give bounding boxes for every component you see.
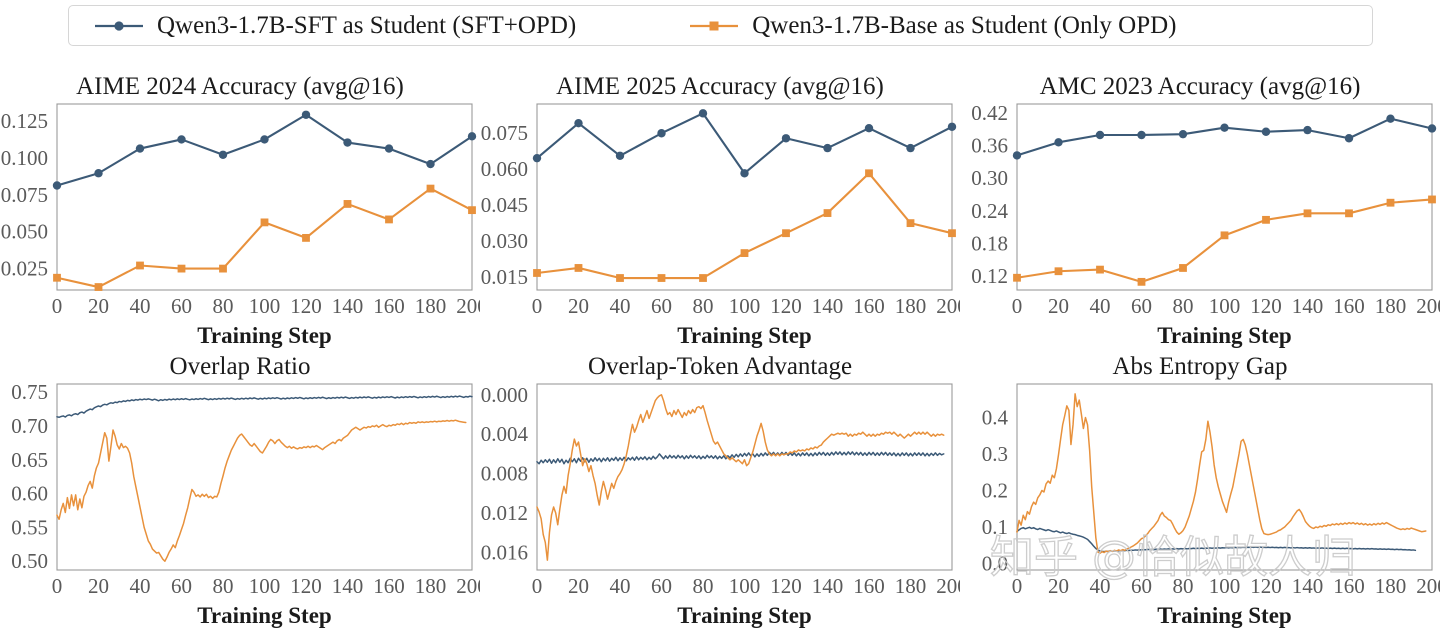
y-axis-tick-label: 0.000 (481, 383, 528, 407)
x-axis-tick-label: 180 (415, 294, 447, 318)
y-axis-tick-label: 0.015 (481, 265, 528, 289)
plot-frame (57, 104, 472, 290)
x-axis-tick-label: 40 (130, 574, 151, 598)
x-axis-tick-label: 100 (249, 574, 281, 598)
data-point-marker (1303, 126, 1311, 134)
data-point-marker (344, 200, 352, 208)
x-axis-tick-label: 180 (895, 294, 927, 318)
data-point-marker (385, 216, 393, 224)
x-axis-tick-label: 0 (52, 574, 63, 598)
data-point-marker (1013, 274, 1021, 282)
line-circle-marker-icon (93, 16, 145, 36)
data-point-marker (699, 109, 707, 117)
x-axis-tick-label: 160 (1333, 574, 1365, 598)
y-axis-tick-label: 0.060 (481, 157, 528, 181)
y-axis-tick-label: 0.3 (982, 442, 1008, 466)
x-axis-tick-label: 120 (290, 294, 322, 318)
y-axis-tick-label: 0.100 (1, 146, 48, 170)
y-axis-tick-label: 0.55 (11, 515, 48, 539)
data-point-marker (177, 135, 185, 143)
plot-frame (57, 384, 472, 570)
data-point-marker (1386, 114, 1394, 122)
data-point-marker (533, 269, 541, 277)
x-axis-tick-label: 60 (1131, 574, 1152, 598)
x-axis-tick-label: 200 (936, 574, 960, 598)
data-point-marker (95, 283, 103, 291)
x-axis-tick-label: 100 (729, 574, 761, 598)
x-axis-tick-label: 140 (332, 294, 364, 318)
data-point-marker (53, 274, 61, 282)
plot-frame (1017, 384, 1432, 570)
x-axis-tick-label: 140 (812, 574, 844, 598)
y-axis-tick-label: 0.75 (11, 380, 48, 404)
x-axis-tick-label: 80 (213, 294, 234, 318)
x-axis-tick-label: 60 (1131, 294, 1152, 318)
y-axis-tick-label: 0.36 (971, 134, 1008, 158)
x-axis-tick-label: 160 (373, 294, 405, 318)
x-axis-tick-label: 60 (171, 294, 192, 318)
plot-frame (1017, 104, 1432, 290)
y-axis-tick-label: 0.075 (481, 121, 528, 145)
data-point-marker (302, 111, 310, 119)
data-point-marker (824, 209, 832, 217)
figure-legend: Qwen3-1.7B-SFT as Student (SFT+OPD) Qwen… (68, 5, 1373, 46)
data-point-marker (1179, 264, 1187, 272)
y-axis-tick-label: 0.50 (11, 549, 48, 573)
y-axis-tick-label: 0.125 (1, 109, 48, 133)
data-point-marker (1138, 278, 1146, 286)
data-point-marker (1428, 196, 1436, 204)
x-axis-tick-label: 200 (456, 574, 480, 598)
y-axis-tick-label: −0.016 (480, 540, 528, 564)
data-point-marker (427, 185, 435, 193)
y-axis-tick-label: −0.012 (480, 501, 528, 525)
subplot-canvas: 0.120.180.240.300.360.420204060801001201… (960, 72, 1440, 359)
x-axis-tick-label: 80 (693, 574, 714, 598)
x-axis-tick-label: 20 (88, 294, 109, 318)
x-axis-tick-label: 140 (332, 574, 364, 598)
data-point-marker (823, 144, 831, 152)
subplot-overlap-ratio: Overlap Ratio 0.500.550.600.650.700.7502… (0, 352, 480, 639)
data-point-marker (302, 234, 310, 242)
x-axis-tick-label: 200 (1416, 294, 1440, 318)
data-point-marker (658, 274, 666, 282)
data-point-marker (1345, 134, 1353, 142)
figure-root: Qwen3-1.7B-SFT as Student (SFT+OPD) Qwen… (0, 0, 1440, 620)
x-axis-tick-label: 200 (936, 294, 960, 318)
subplot-canvas: 0.0250.0500.0750.1000.125020406080100120… (0, 72, 480, 359)
data-point-marker (1221, 231, 1229, 239)
y-axis-tick-label: 0.0 (982, 551, 1008, 575)
data-point-marker (94, 169, 102, 177)
data-point-marker (1304, 209, 1312, 217)
data-point-marker (1220, 123, 1228, 131)
y-axis-tick-label: 0.1 (982, 515, 1008, 539)
data-point-marker (1428, 124, 1436, 132)
y-axis-tick-label: 0.60 (11, 482, 48, 506)
x-axis-tick-label: 140 (1292, 294, 1324, 318)
x-axis-tick-label: 140 (812, 294, 844, 318)
y-axis-tick-label: 0.075 (1, 183, 48, 207)
subplot-aime-2025: AIME 2025 Accuracy (avg@16) 0.0150.0300.… (480, 72, 960, 359)
data-point-marker (53, 181, 61, 189)
x-axis-tick-label: 40 (130, 294, 151, 318)
x-axis-tick-label: 180 (415, 574, 447, 598)
x-axis-tick-label: 120 (1250, 294, 1282, 318)
data-point-marker (219, 151, 227, 159)
x-axis-label: Training Step (1157, 603, 1291, 628)
subplot-abs-entropy-gap: Abs Entropy Gap 0.00.10.20.30.4020406080… (960, 352, 1440, 639)
x-axis-tick-label: 120 (290, 574, 322, 598)
x-axis-tick-label: 0 (1012, 574, 1023, 598)
y-axis-tick-label: 0.050 (1, 220, 48, 244)
data-point-marker (1096, 131, 1104, 139)
data-point-marker (219, 265, 227, 273)
x-axis-tick-label: 0 (532, 294, 543, 318)
x-axis-tick-label: 100 (249, 294, 281, 318)
x-axis-tick-label: 180 (1375, 294, 1407, 318)
x-axis-tick-label: 180 (1375, 574, 1407, 598)
x-axis-tick-label: 160 (1333, 294, 1365, 318)
data-point-marker (533, 154, 541, 162)
x-axis-tick-label: 160 (853, 574, 885, 598)
y-axis-tick-label: 0.70 (11, 414, 48, 438)
y-axis-tick-label: −0.004 (480, 422, 528, 446)
data-point-marker (1262, 128, 1270, 136)
x-axis-tick-label: 20 (88, 574, 109, 598)
x-axis-label: Training Step (197, 603, 331, 628)
data-point-marker (385, 144, 393, 152)
y-axis-tick-label: 0.65 (11, 448, 48, 472)
legend-label-base: Qwen3-1.7B-Base as Student (Only OPD) (752, 12, 1176, 40)
x-axis-label: Training Step (677, 323, 811, 348)
subplot-canvas: 0.00.10.20.30.40204060801001201401601802… (960, 352, 1440, 639)
x-axis-tick-label: 0 (1012, 294, 1023, 318)
legend-entry-sft: Qwen3-1.7B-SFT as Student (SFT+OPD) (93, 12, 576, 40)
y-axis-tick-label: 0.12 (971, 264, 1008, 288)
data-point-marker (574, 119, 582, 127)
subplot-canvas: 0.500.550.600.650.700.750204060801001201… (0, 352, 480, 639)
y-axis-tick-label: 0.18 (971, 232, 1008, 256)
y-axis-tick-label: 0.30 (971, 166, 1008, 190)
x-axis-tick-label: 60 (171, 574, 192, 598)
x-axis-tick-label: 180 (895, 574, 927, 598)
x-axis-tick-label: 200 (456, 294, 480, 318)
y-axis-tick-label: −0.008 (480, 462, 528, 486)
x-axis-tick-label: 0 (52, 294, 63, 318)
x-axis-tick-label: 40 (1090, 574, 1111, 598)
subplot-aime-2024: AIME 2024 Accuracy (avg@16) 0.0250.0500.… (0, 72, 480, 359)
subplot-canvas: −0.016−0.012−0.008−0.0040.00002040608010… (480, 352, 960, 639)
x-axis-tick-label: 20 (568, 574, 589, 598)
x-axis-tick-label: 20 (1048, 294, 1069, 318)
x-axis-tick-label: 140 (1292, 574, 1324, 598)
data-point-marker (136, 262, 144, 270)
y-axis-tick-label: 0.24 (971, 199, 1008, 223)
x-axis-tick-label: 200 (1416, 574, 1440, 598)
data-point-marker (178, 265, 186, 273)
data-point-marker (575, 264, 583, 272)
x-axis-label: Training Step (677, 603, 811, 628)
x-axis-tick-label: 20 (568, 294, 589, 318)
x-axis-tick-label: 100 (729, 294, 761, 318)
plot-frame (537, 384, 952, 570)
data-point-marker (948, 229, 956, 237)
x-axis-tick-label: 80 (693, 294, 714, 318)
data-point-marker (1055, 267, 1063, 275)
subplot-amc-2023: AMC 2023 Accuracy (avg@16) 0.120.180.240… (960, 72, 1440, 359)
data-point-marker (1137, 131, 1145, 139)
x-axis-tick-label: 120 (770, 574, 802, 598)
subplot-overlap-token-advantage: Overlap-Token Advantage −0.016−0.012−0.0… (480, 352, 960, 639)
data-point-marker (741, 249, 749, 257)
data-point-marker (260, 135, 268, 143)
data-point-marker (907, 219, 915, 227)
data-point-marker (1054, 138, 1062, 146)
data-point-marker (616, 274, 624, 282)
x-axis-tick-label: 100 (1209, 574, 1241, 598)
data-point-marker (468, 132, 476, 140)
data-point-marker (865, 124, 873, 132)
subplot-canvas: 0.0150.0300.0450.0600.075020406080100120… (480, 72, 960, 359)
data-point-marker (906, 144, 914, 152)
data-point-marker (1345, 209, 1353, 217)
x-axis-tick-label: 100 (1209, 294, 1241, 318)
line-square-marker-icon (688, 16, 740, 36)
x-axis-tick-label: 120 (770, 294, 802, 318)
data-point-marker (1096, 266, 1104, 274)
data-point-marker (1262, 216, 1270, 224)
data-point-marker (343, 138, 351, 146)
data-point-marker (1179, 130, 1187, 138)
x-axis-label: Training Step (197, 323, 331, 348)
x-axis-tick-label: 0 (532, 574, 543, 598)
x-axis-tick-label: 60 (651, 574, 672, 598)
legend-label-sft: Qwen3-1.7B-SFT as Student (SFT+OPD) (157, 12, 576, 40)
x-axis-tick-label: 60 (651, 294, 672, 318)
x-axis-tick-label: 20 (1048, 574, 1069, 598)
data-point-marker (468, 206, 476, 214)
x-axis-label: Training Step (1157, 323, 1291, 348)
x-axis-tick-label: 40 (1090, 294, 1111, 318)
x-axis-tick-label: 40 (610, 294, 631, 318)
data-point-marker (657, 129, 665, 137)
y-axis-tick-label: 0.045 (481, 193, 528, 217)
y-axis-tick-label: 0.030 (481, 229, 528, 253)
x-axis-tick-label: 40 (610, 574, 631, 598)
x-axis-tick-label: 160 (373, 574, 405, 598)
y-axis-tick-label: 0.025 (1, 257, 48, 281)
y-axis-tick-label: 0.4 (982, 406, 1009, 430)
data-point-marker (426, 160, 434, 168)
legend-entry-base: Qwen3-1.7B-Base as Student (Only OPD) (688, 12, 1176, 40)
data-point-marker (136, 144, 144, 152)
x-axis-tick-label: 80 (1173, 574, 1194, 598)
data-point-marker (782, 134, 790, 142)
data-point-marker (948, 123, 956, 131)
y-axis-tick-label: 0.2 (982, 478, 1008, 502)
data-point-marker (865, 169, 873, 177)
data-point-marker (616, 152, 624, 160)
x-axis-tick-label: 160 (853, 294, 885, 318)
data-point-marker (782, 229, 790, 237)
data-point-marker (1387, 199, 1395, 207)
x-axis-tick-label: 120 (1250, 574, 1282, 598)
data-point-marker (699, 274, 707, 282)
x-axis-tick-label: 80 (1173, 294, 1194, 318)
data-point-marker (261, 218, 269, 226)
y-axis-tick-label: 0.42 (971, 101, 1008, 125)
data-point-marker (740, 169, 748, 177)
x-axis-tick-label: 80 (213, 574, 234, 598)
data-point-marker (1013, 151, 1021, 159)
